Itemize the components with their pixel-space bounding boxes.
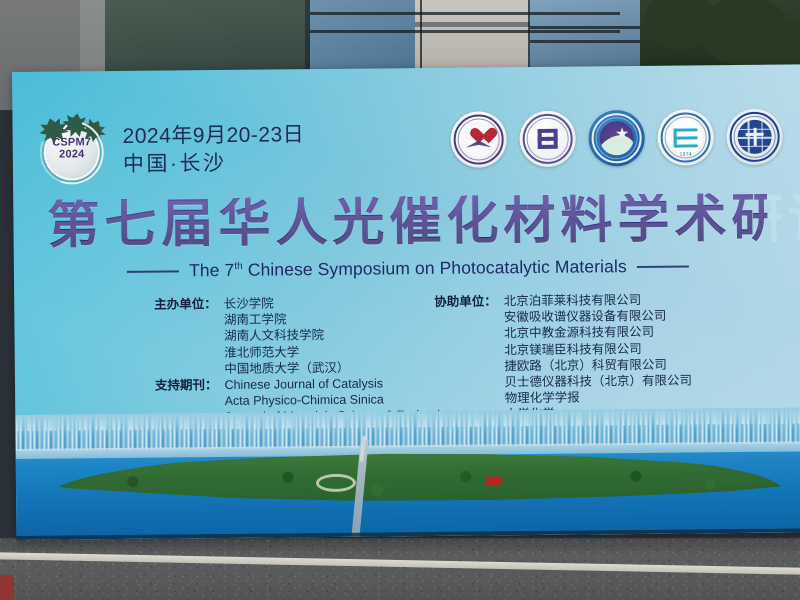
university-emblems: 1974 — [450, 109, 783, 168]
rule-right — [637, 265, 689, 267]
cross-icon — [746, 128, 764, 146]
logo-text-line2: 2024 — [44, 149, 100, 161]
event-date-location: 2024年9月20-23日 中国·长沙 — [122, 119, 304, 178]
window-mullion — [310, 12, 620, 15]
huaibei-normal-university-emblem: 1974 — [657, 109, 714, 166]
right-values: 北京泊菲莱科技有限公司 安徽吸收谱仪器设备有限公司 北京中教金源科技有限公司 北… — [504, 291, 693, 422]
window-mullion — [530, 40, 640, 43]
emblem-core — [737, 120, 771, 154]
window-mullion — [310, 30, 620, 33]
banner-title-chinese: 第七届华人光催化材料学术研讨会 — [47, 193, 767, 252]
photo-scene: CSPM7 2024 2024年9月20-23日 中国·长沙 — [0, 0, 800, 600]
organizers-label: 主办单位： — [154, 296, 217, 313]
window-mullion — [415, 22, 530, 27]
book-lines-icon — [674, 128, 698, 147]
event-location: 中国·长沙 — [123, 149, 305, 178]
left-labels: 主办单位： 支持期刊： — [154, 296, 218, 426]
subtitle-post: Chinese Symposium on Photocatalytic Mate… — [243, 256, 627, 280]
hunan-university-of-humanities-science-and-technology-emblem — [588, 110, 645, 167]
banner-subtitle-row: The 7th Chinese Symposium on Photocataly… — [48, 255, 768, 283]
right-labels: 协助单位： — [434, 293, 498, 423]
journals-label: 支持期刊： — [155, 377, 218, 394]
banner-info-block: 主办单位： 支持期刊： 长沙学院 湖南工学院 湖南人文科技学院 淮北师范大学 中… — [14, 290, 800, 298]
banner-header: CSPM7 2024 2024年9月20-23日 中国·长沙 — [34, 111, 304, 188]
sponsor-item: 北京镁瑞臣科技有限公司 — [504, 340, 692, 358]
emblem-core — [531, 122, 565, 156]
red-curb — [0, 575, 14, 600]
sponsors-label: 协助单位： — [434, 293, 497, 310]
cspm7-logo: CSPM7 2024 — [34, 113, 109, 188]
organizers-column: 主办单位： 支持期刊： 长沙学院 湖南工学院 湖南人文科技学院 淮北师范大学 中… — [154, 294, 460, 427]
red-roof-building — [486, 476, 502, 485]
left-values: 长沙学院 湖南工学院 湖南人文科技学院 淮北师范大学 中国地质大学（武汉） Ch… — [224, 294, 461, 426]
logo-text: CSPM7 2024 — [44, 137, 100, 161]
sponsor-item: 物理化学学报 — [505, 389, 693, 407]
china-university-of-geosciences-emblem — [726, 109, 783, 166]
sponsor-item: 安徽吸收谱仪器设备有限公司 — [504, 308, 692, 326]
orange-isle-changsha-cityscape — [15, 407, 800, 540]
emblem-core — [668, 120, 702, 154]
knot-icon — [538, 129, 558, 149]
sponsor-item: 北京泊菲莱科技有限公司 — [504, 291, 692, 309]
bird-swoosh-icon — [600, 132, 634, 155]
sponsor-item: 北京中教金源科技有限公司 — [504, 324, 692, 342]
subtitle-pre: The 7 — [189, 260, 234, 280]
emblem-core — [462, 122, 496, 156]
event-date: 2024年9月20-23日 — [122, 121, 304, 150]
rule-left — [127, 270, 179, 272]
changsha-university-emblem — [450, 111, 507, 168]
hunan-institute-of-technology-emblem — [519, 111, 576, 168]
conference-banner: CSPM7 2024 2024年9月20-23日 中国·长沙 — [12, 64, 800, 540]
banner-subtitle-english: The 7th Chinese Symposium on Photocataly… — [189, 256, 627, 281]
window-mullion — [530, 26, 640, 29]
emblem-year: 1974 — [658, 151, 714, 158]
sponsors-column: 协助单位： 北京泊菲莱科技有限公司 安徽吸收谱仪器设备有限公司 北京中教金源科技… — [434, 291, 692, 423]
sponsor-item: 捷欧路（北京）科贸有限公司 — [504, 356, 692, 374]
subtitle-ordinal-suffix: th — [234, 261, 243, 272]
emblem-core — [600, 121, 634, 155]
sponsor-item: 贝士德仪器科技（北京）有限公司 — [504, 373, 692, 391]
